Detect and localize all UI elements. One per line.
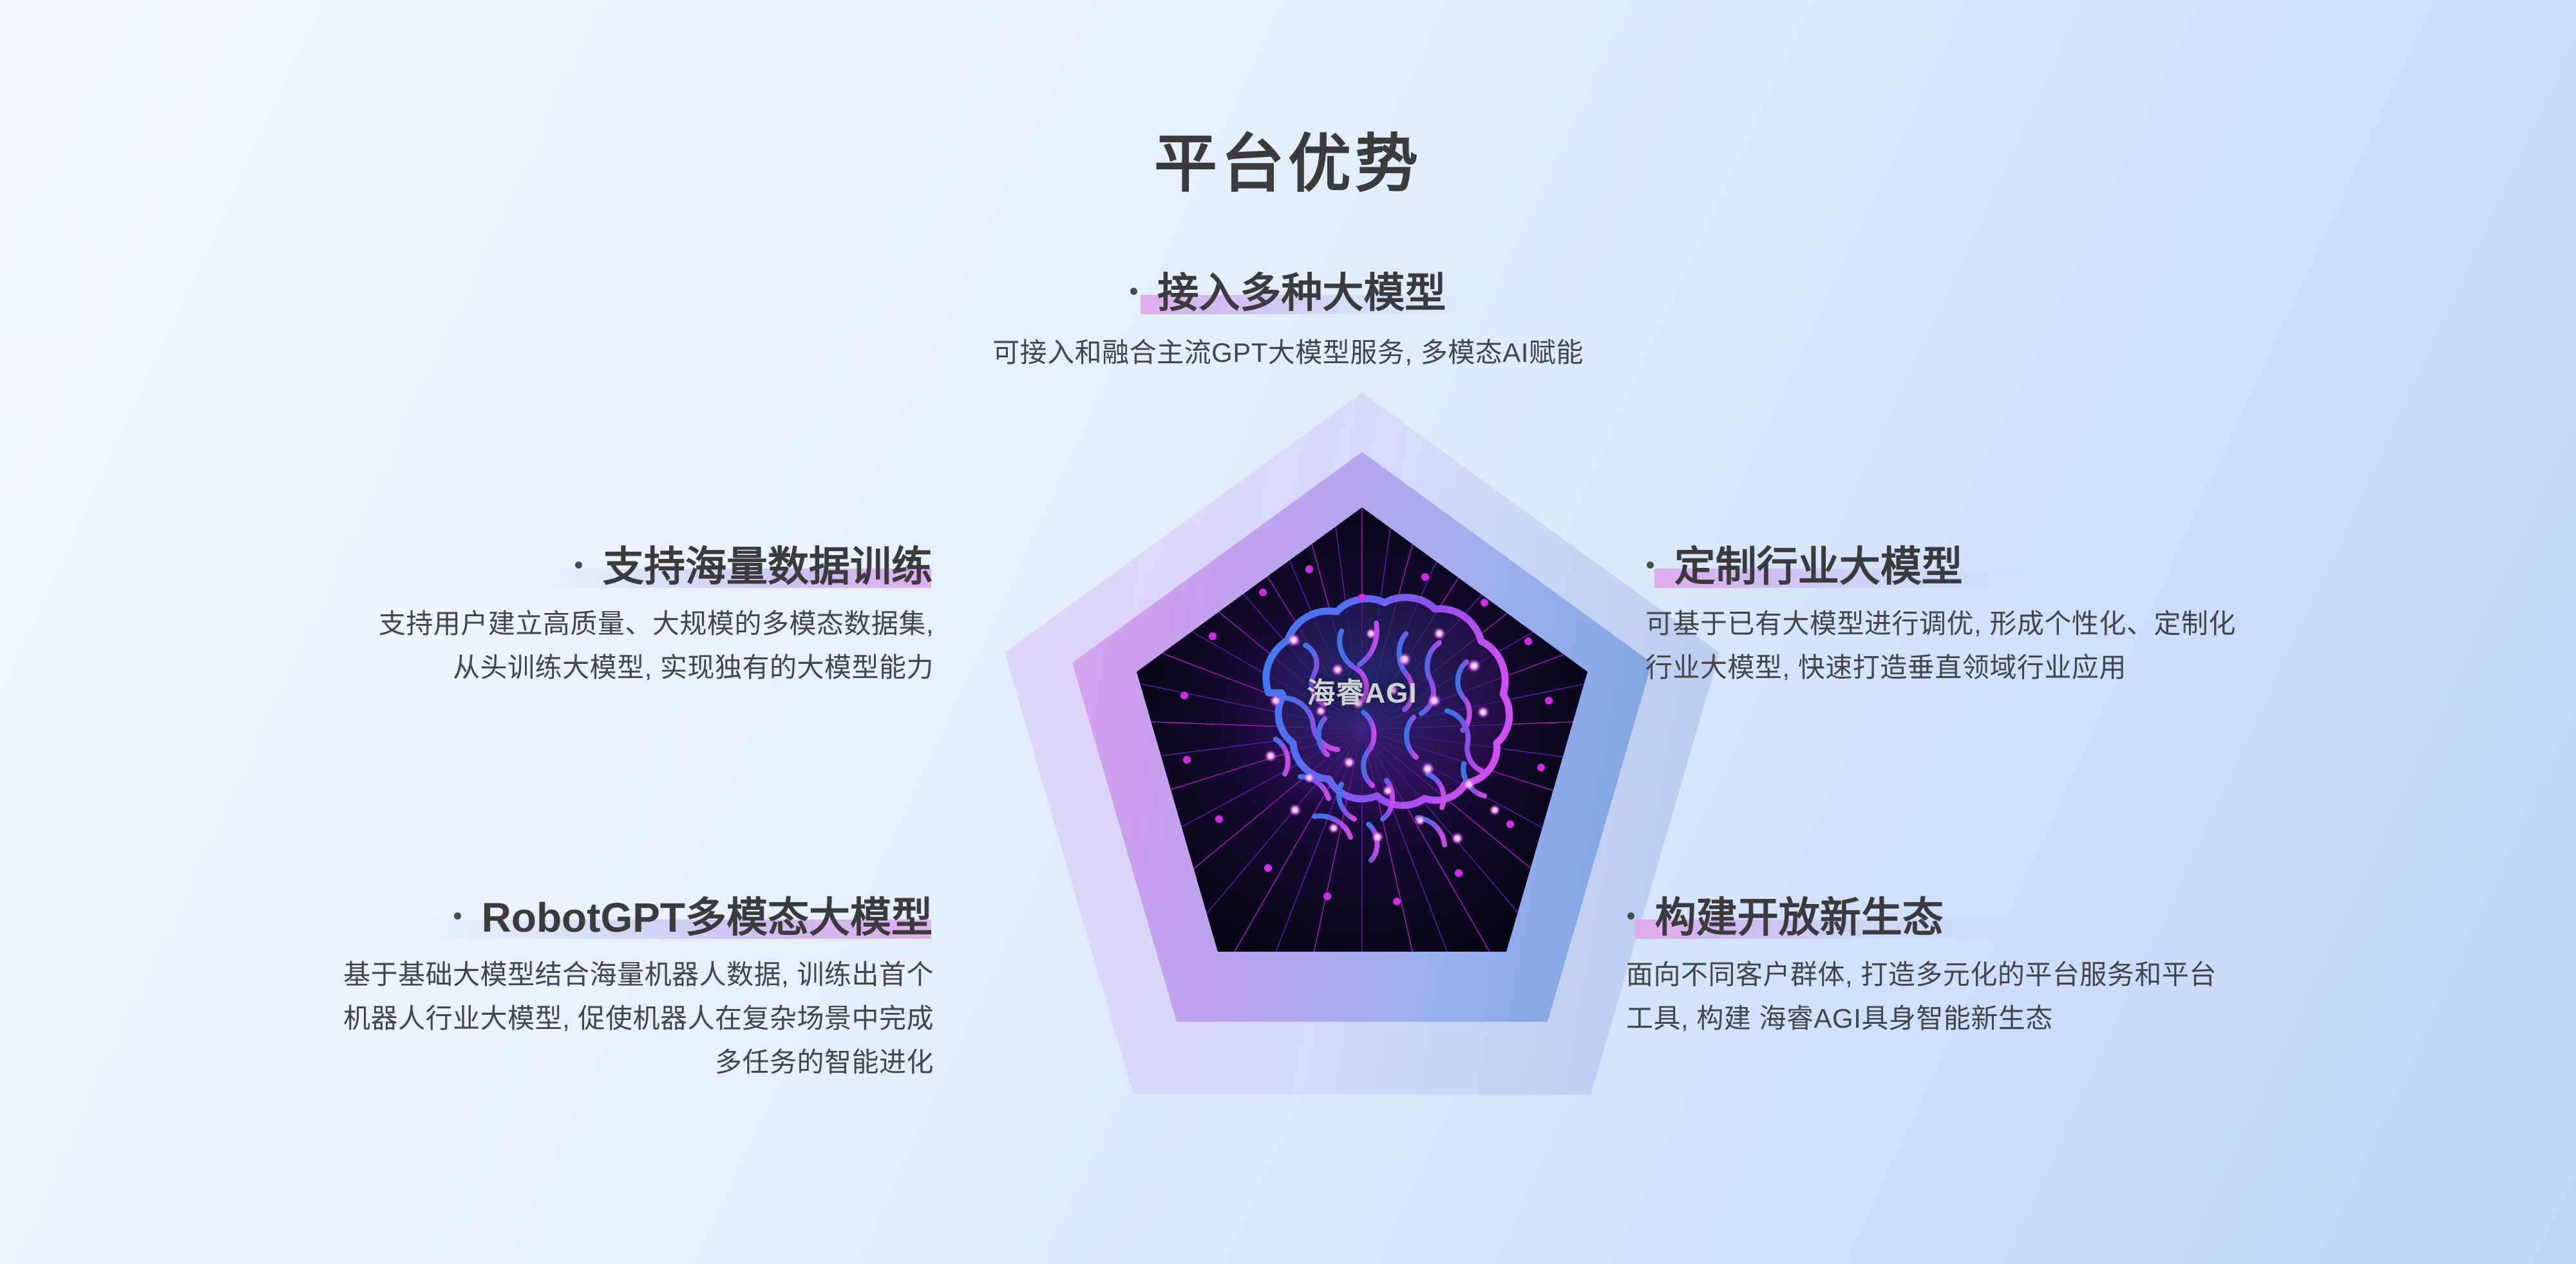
bullet-dot-icon — [1627, 912, 1634, 920]
feature-description: 支持用户建立高质量、大规模的多模态数据集, 从头训练大模型, 实现独有的大模型能… — [129, 602, 934, 690]
slide-canvas: 平台优势 — [0, 0, 2576, 1264]
feature-custom-industry-model: 定制行业大模型 可基于已有大模型进行调优, 形成个性化、定制化 行业大模型, 快… — [1645, 544, 2483, 690]
feature-description: 可接入和融合主流GPT大模型服务, 多模态AI赋能 — [773, 331, 1803, 375]
feature-heading: 定制行业大模型 — [1645, 544, 1964, 590]
feature-heading: 接入多种大模型 — [1129, 270, 1448, 317]
bullet-dot-icon — [575, 561, 582, 569]
feature-open-ecosystem: 构建开放新生态 面向不同客户群体, 打造多元化的平台服务和平台 工具, 构建 海… — [1626, 895, 2476, 1041]
page-title: 平台优势 — [0, 113, 2576, 204]
bullet-dot-icon — [454, 912, 461, 920]
feature-heading: RobotGPT多模态大模型 — [453, 895, 934, 941]
feature-massive-data-training: 支持海量数据训练 支持用户建立高质量、大规模的多模态数据集, 从头训练大模型, … — [129, 544, 934, 690]
feature-heading: 构建开放新生态 — [1626, 895, 1945, 941]
feature-access-multiple-models: 接入多种大模型 可接入和融合主流GPT大模型服务, 多模态AI赋能 — [773, 270, 1803, 375]
feature-heading: 支持海量数据训练 — [574, 544, 934, 590]
bullet-dot-icon — [1647, 561, 1654, 569]
center-pentagon-graphic: 海睿AGI — [1005, 393, 1719, 1101]
feature-description: 基于基础大模型结合海量机器人数据, 训练出首个 机器人行业大模型, 促使机器人在… — [116, 953, 934, 1084]
bullet-dot-icon — [1130, 288, 1137, 295]
feature-description: 面向不同客户群体, 打造多元化的平台服务和平台 工具, 构建 海睿AGI具身智能… — [1626, 953, 2476, 1041]
feature-description: 可基于已有大模型进行调优, 形成个性化、定制化 行业大模型, 快速打造垂直领域行… — [1645, 602, 2483, 690]
feature-robotgpt-multimodal-model: RobotGPT多模态大模型 基于基础大模型结合海量机器人数据, 训练出首个 机… — [116, 895, 934, 1084]
